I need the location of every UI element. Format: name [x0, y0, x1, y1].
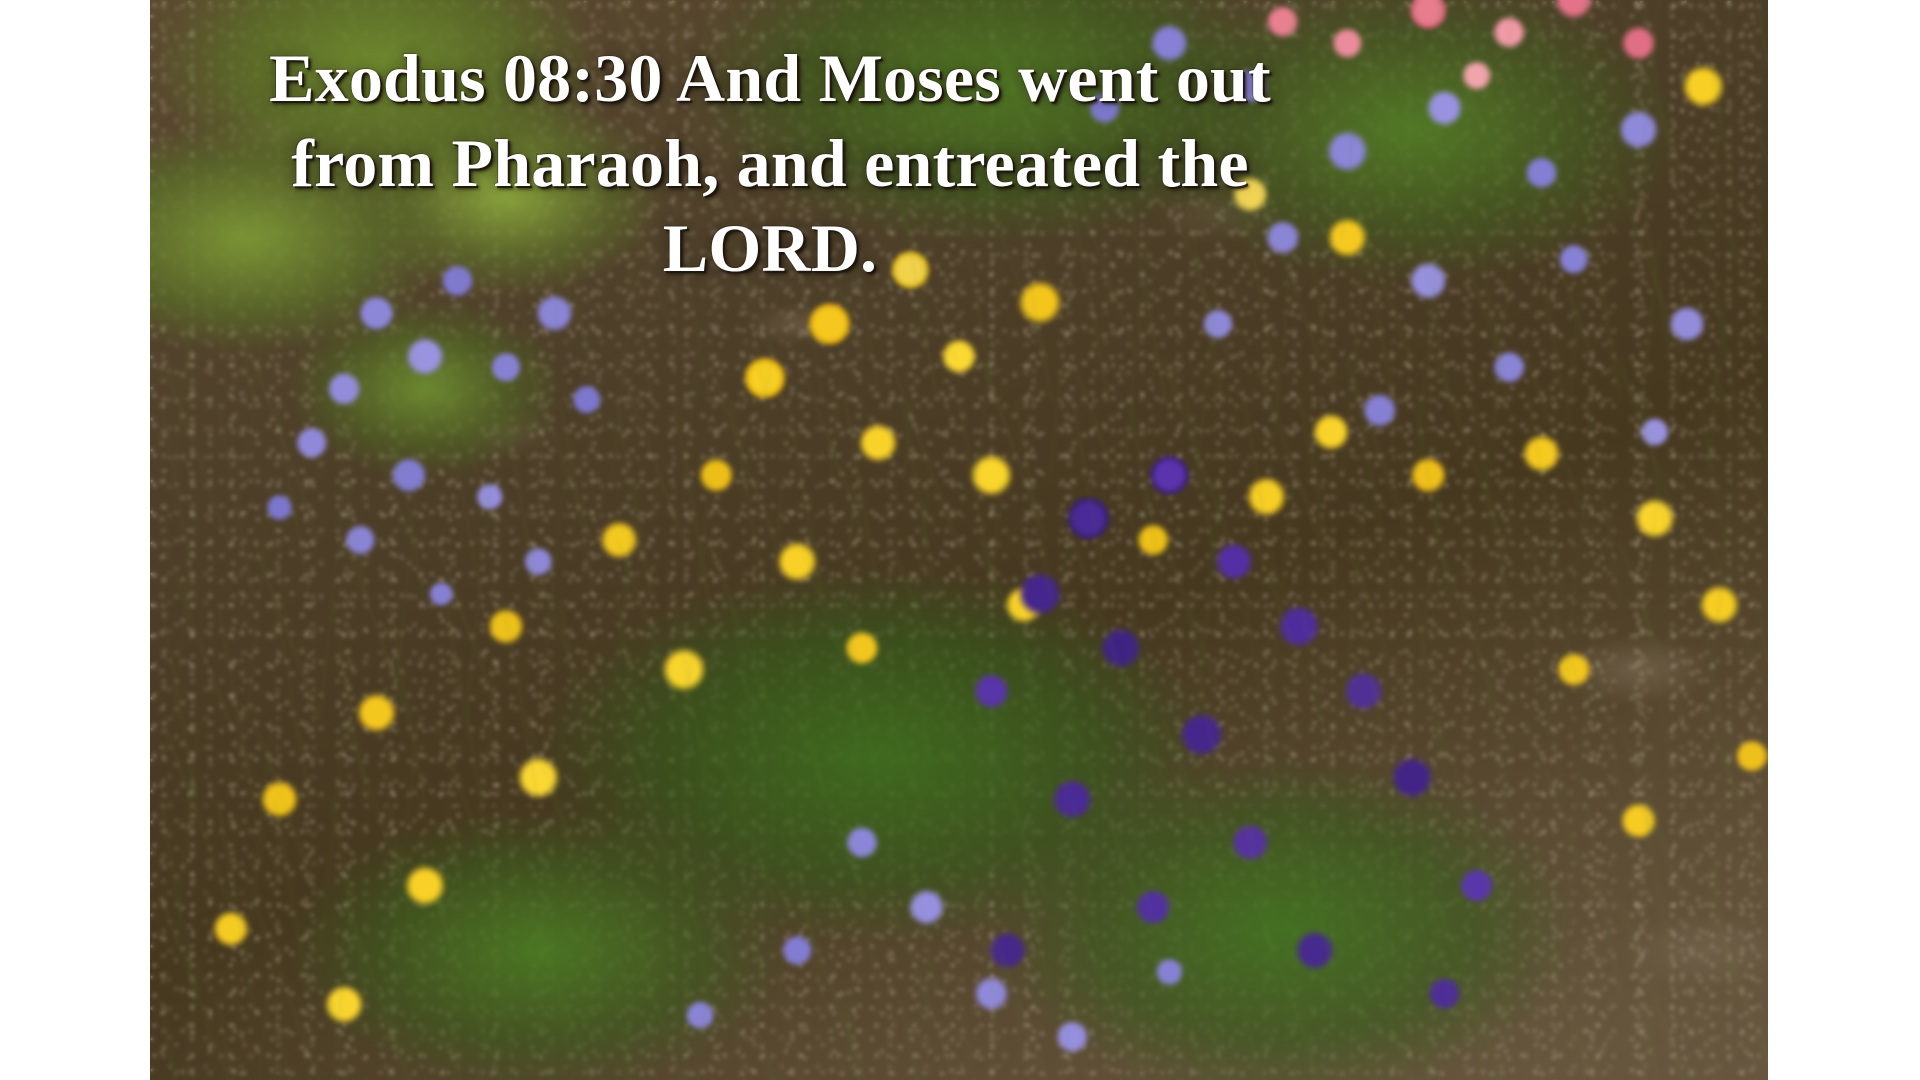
screenshot-canvas: Exodus 08:30 And Moses went out from Pha… — [0, 0, 1920, 1080]
photo-vignette — [150, 0, 1768, 1080]
flower-bed-photograph — [150, 0, 1768, 1080]
